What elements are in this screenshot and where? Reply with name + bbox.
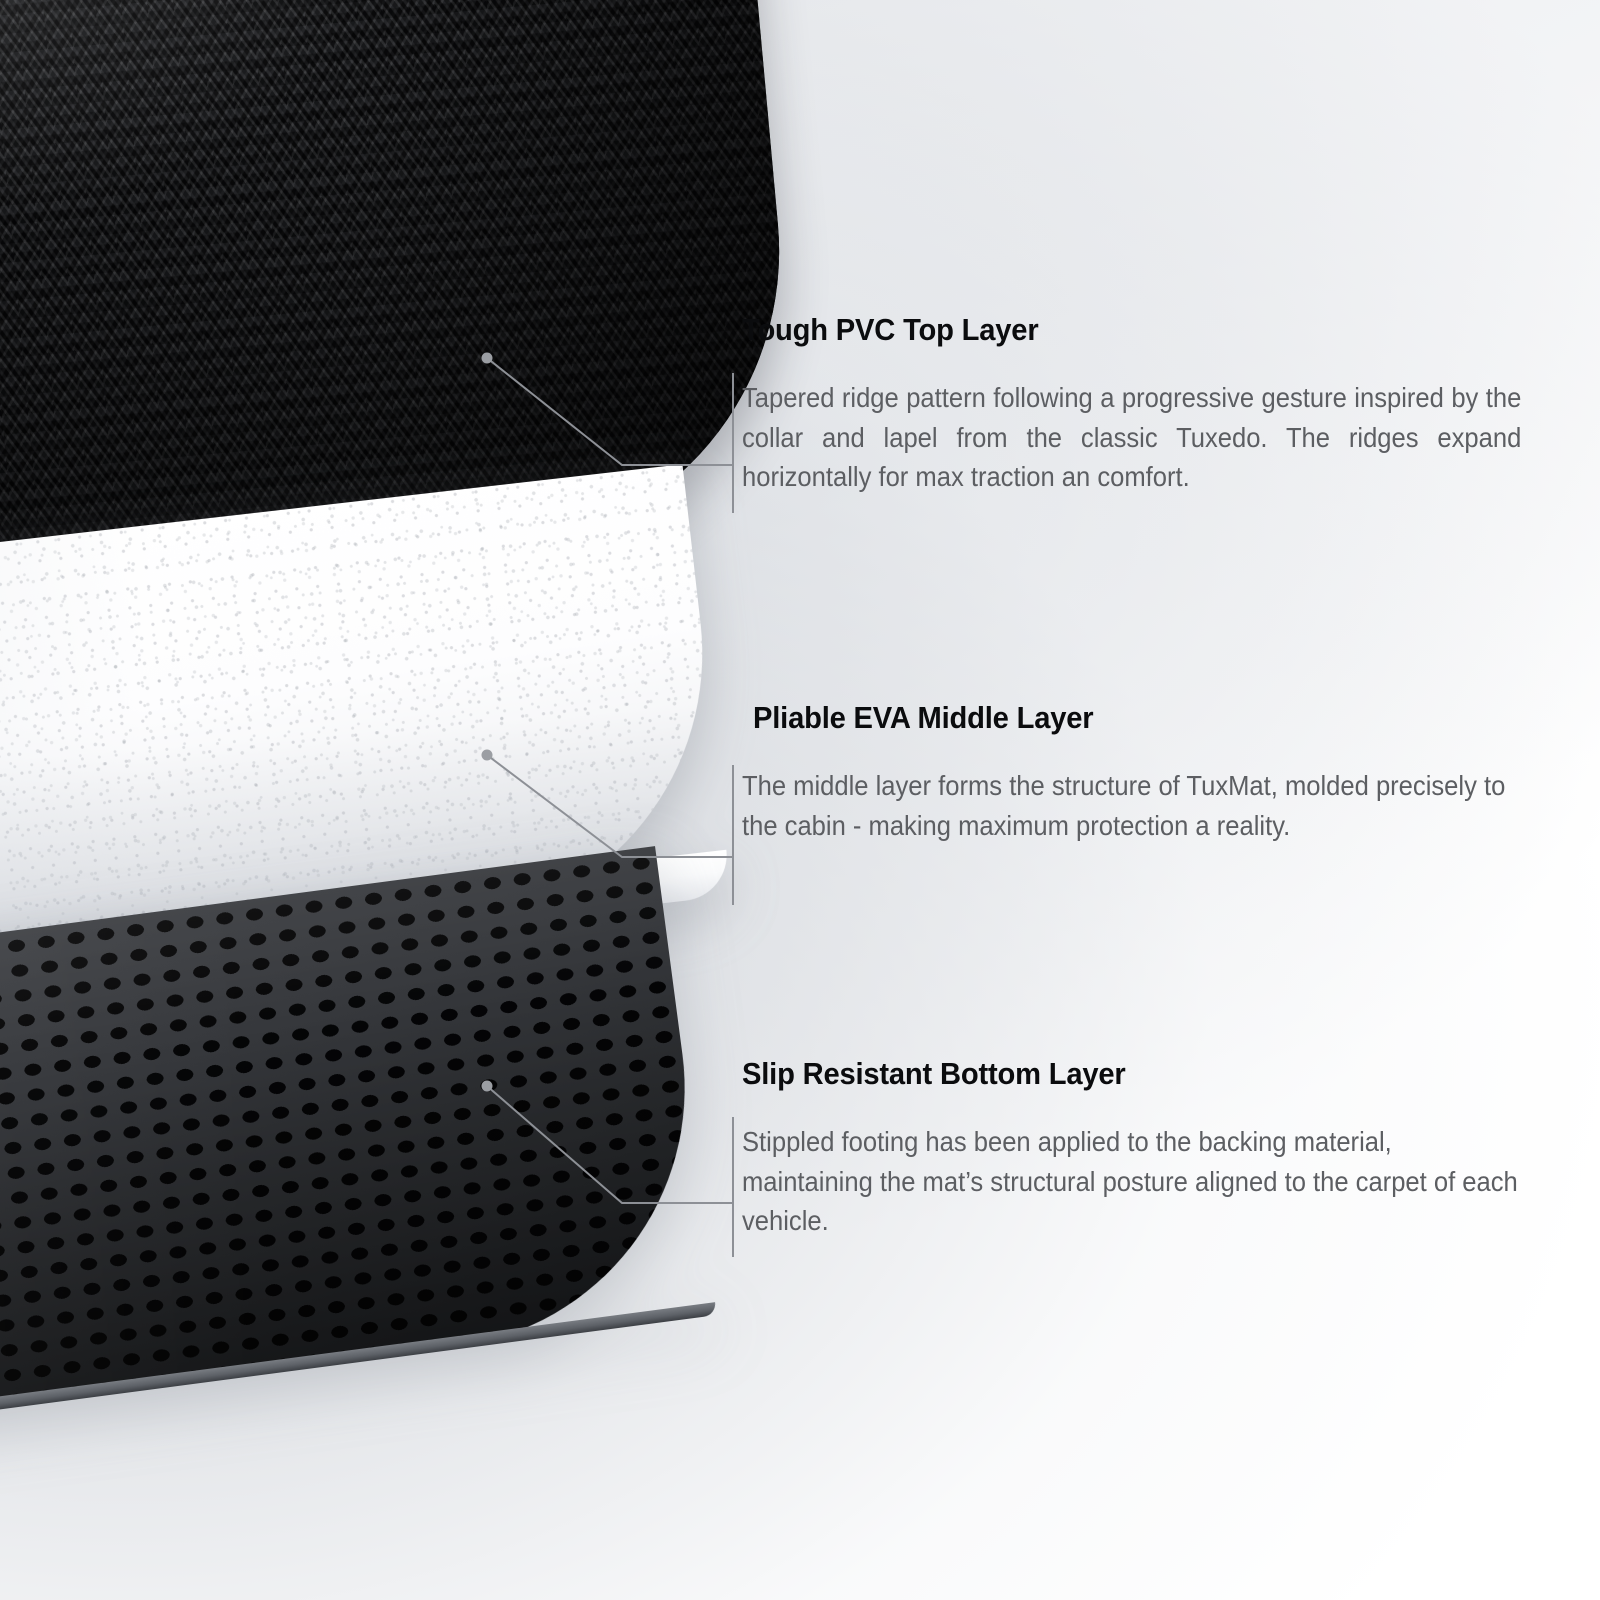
callout-body: Stippled footing has been applied to the… xyxy=(742,1122,1521,1241)
callout-body: The middle layer forms the structure of … xyxy=(742,766,1521,845)
callout-eva-middle: Pliable EVA Middle Layer The middle laye… xyxy=(742,700,1532,845)
callout-heading: Tough PVC Top Layer xyxy=(742,312,1485,348)
infographic-canvas: Tough PVC Top Layer Tapered ridge patter… xyxy=(0,0,1600,1600)
callout-slip-bottom: Slip Resistant Bottom Layer Stippled foo… xyxy=(742,1056,1532,1241)
callout-heading: Slip Resistant Bottom Layer xyxy=(742,1056,1485,1092)
callout-pvc-top: Tough PVC Top Layer Tapered ridge patter… xyxy=(742,312,1532,497)
callout-body: Tapered ridge pattern following a progre… xyxy=(742,378,1521,497)
slip-resistant-bottom-layer-image xyxy=(0,846,716,1444)
callout-heading: Pliable EVA Middle Layer xyxy=(753,700,1485,736)
